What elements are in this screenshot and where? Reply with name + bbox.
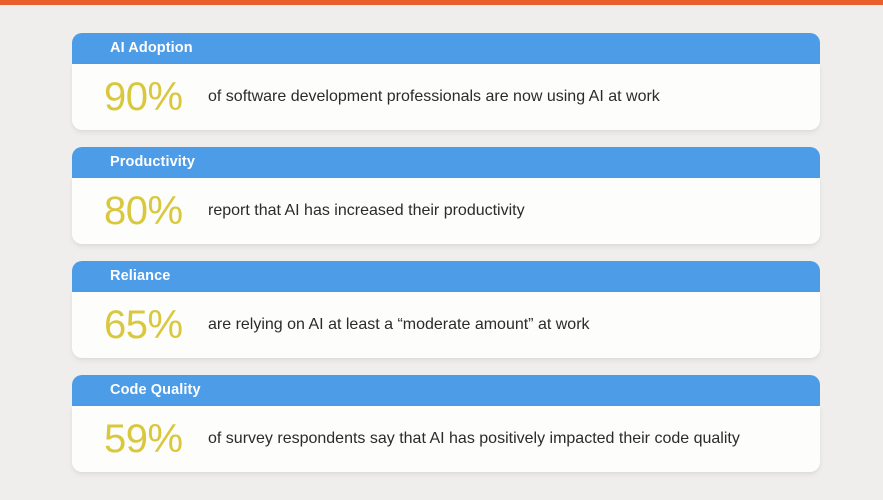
stat-card-body: 65% are relying on AI at least a “modera… xyxy=(72,292,820,358)
stat-card-category-label: Reliance xyxy=(110,269,170,284)
stat-card-category-label: AI Adoption xyxy=(110,41,193,56)
stat-description-text: of software development professionals ar… xyxy=(208,87,660,106)
top-accent-bar xyxy=(0,0,883,5)
stat-percent-value: 59% xyxy=(104,419,200,459)
stat-description-text: report that AI has increased their produ… xyxy=(208,201,525,220)
stat-percent-value: 65% xyxy=(104,305,200,345)
stat-card-header: Productivity xyxy=(72,147,820,178)
stat-percent-value: 80% xyxy=(104,191,200,231)
stat-card-category-label: Productivity xyxy=(110,155,195,170)
stat-card-category-label: Code Quality xyxy=(110,383,201,398)
stat-card-body: 59% of survey respondents say that AI ha… xyxy=(72,406,820,472)
stat-card-header: Code Quality xyxy=(72,375,820,406)
stat-card-body: 80% report that AI has increased their p… xyxy=(72,178,820,244)
stat-card-header: AI Adoption xyxy=(72,33,820,64)
stat-description-text: of survey respondents say that AI has po… xyxy=(208,429,740,448)
stat-card: Reliance 65% are relying on AI at least … xyxy=(72,261,820,358)
stat-card-header: Reliance xyxy=(72,261,820,292)
stat-description-text: are relying on AI at least a “moderate a… xyxy=(208,315,590,334)
stat-card: Productivity 80% report that AI has incr… xyxy=(72,147,820,244)
stat-card: AI Adoption 90% of software development … xyxy=(72,33,820,130)
stats-card-list: AI Adoption 90% of software development … xyxy=(72,33,820,472)
stat-percent-value: 90% xyxy=(104,77,200,117)
stat-card: Code Quality 59% of survey respondents s… xyxy=(72,375,820,472)
stat-card-body: 90% of software development professional… xyxy=(72,64,820,130)
